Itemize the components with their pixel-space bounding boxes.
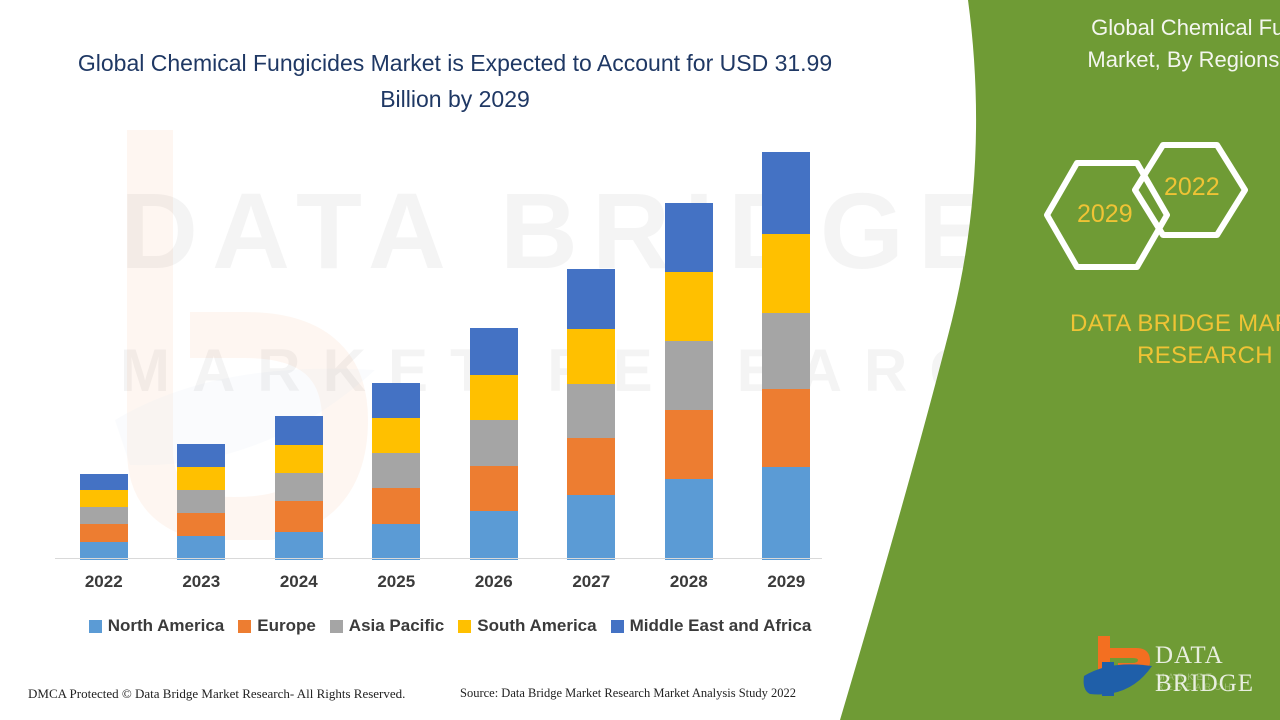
hex-badge-2022-label: 2022: [1164, 173, 1220, 202]
segment-europe-2024: [275, 501, 323, 531]
segment-middle-east-and-africa-2026: [470, 328, 518, 375]
bar-2028: [665, 152, 713, 560]
segment-europe-2022: [80, 524, 128, 541]
x-label-2025: 2025: [348, 572, 444, 592]
bar-2022: [80, 152, 128, 560]
segment-asia-pacific-2027: [567, 384, 615, 437]
segment-south-america-2026: [470, 375, 518, 421]
segment-europe-2028: [665, 410, 713, 480]
segment-europe-2029: [762, 389, 810, 468]
segment-south-america-2022: [80, 490, 128, 506]
x-axis-line: [55, 558, 822, 559]
segment-asia-pacific-2026: [470, 420, 518, 466]
legend-swatch-icon: [611, 620, 624, 633]
segment-europe-2027: [567, 438, 615, 495]
segment-south-america-2023: [177, 467, 225, 490]
segment-middle-east-and-africa-2025: [372, 383, 420, 418]
segment-middle-east-and-africa-2028: [665, 203, 713, 272]
bar-2023: [177, 152, 225, 560]
segment-north-america-2027: [567, 495, 615, 560]
chart-legend: North AmericaEuropeAsia PacificSouth Ame…: [55, 616, 845, 636]
legend-swatch-icon: [330, 620, 343, 633]
legend-item-middle-east-and-africa[interactable]: Middle East and Africa: [611, 616, 812, 636]
bar-2027: [567, 152, 615, 560]
legend-item-asia-pacific[interactable]: Asia Pacific: [330, 616, 444, 636]
x-label-2024: 2024: [251, 572, 347, 592]
page-title: Global Chemical Fungicides Market is Exp…: [60, 46, 850, 117]
segment-middle-east-and-africa-2027: [567, 269, 615, 329]
segment-north-america-2029: [762, 467, 810, 560]
segment-north-america-2024: [275, 532, 323, 560]
legend-swatch-icon: [458, 620, 471, 633]
legend-swatch-icon: [89, 620, 102, 633]
legend-swatch-icon: [238, 620, 251, 633]
segment-europe-2026: [470, 466, 518, 511]
bar-2026: [470, 152, 518, 560]
segment-south-america-2025: [372, 418, 420, 453]
segment-middle-east-and-africa-2022: [80, 474, 128, 490]
segment-south-america-2024: [275, 445, 323, 473]
segment-south-america-2028: [665, 272, 713, 341]
segment-europe-2025: [372, 488, 420, 524]
segment-south-america-2027: [567, 329, 615, 385]
data-bridge-logo-icon: [1080, 632, 1158, 704]
legend-label: Middle East and Africa: [630, 616, 812, 636]
segment-north-america-2026: [470, 511, 518, 560]
x-axis-labels: 20222023202420252026202720282029: [55, 572, 835, 600]
segment-north-america-2028: [665, 479, 713, 560]
segment-north-america-2023: [177, 536, 225, 560]
hex-badge-group: 2029 2022: [1025, 140, 1255, 295]
x-label-2028: 2028: [641, 572, 737, 592]
segment-south-america-2029: [762, 234, 810, 313]
legend-item-europe[interactable]: Europe: [238, 616, 316, 636]
segment-asia-pacific-2024: [275, 473, 323, 501]
brand-panel: Global Chemical Fungicides Market, By Re…: [840, 0, 1280, 720]
legend-label: Europe: [257, 616, 316, 636]
segment-middle-east-and-africa-2029: [762, 152, 810, 234]
segment-asia-pacific-2022: [80, 507, 128, 524]
footer-copyright: DMCA Protected © Data Bridge Market Rese…: [28, 686, 405, 702]
x-label-2027: 2027: [543, 572, 639, 592]
stacked-bar-chart: [55, 150, 835, 560]
logo-tagline: MARKET RESEARCH: [1157, 672, 1280, 692]
legend-label: South America: [477, 616, 596, 636]
x-label-2023: 2023: [153, 572, 249, 592]
footer-source: Source: Data Bridge Market Research Mark…: [460, 686, 796, 701]
brand-name: DATA BRIDGE MARKET RESEARCH: [1040, 308, 1280, 373]
segment-middle-east-and-africa-2024: [275, 416, 323, 444]
bar-2025: [372, 152, 420, 560]
segment-europe-2023: [177, 513, 225, 536]
bar-2029: [762, 152, 810, 560]
panel-title: Global Chemical Fungicides Market, By Re…: [1065, 12, 1280, 108]
x-label-2022: 2022: [56, 572, 152, 592]
x-label-2026: 2026: [446, 572, 542, 592]
segment-asia-pacific-2029: [762, 313, 810, 389]
legend-item-north-america[interactable]: North America: [89, 616, 225, 636]
bar-2024: [275, 152, 323, 560]
segment-asia-pacific-2025: [372, 453, 420, 488]
hex-badge-2029-label: 2029: [1077, 200, 1133, 229]
segment-north-america-2025: [372, 524, 420, 560]
legend-label: North America: [108, 616, 225, 636]
segment-middle-east-and-africa-2023: [177, 444, 225, 467]
legend-item-south-america[interactable]: South America: [458, 616, 596, 636]
segment-asia-pacific-2023: [177, 490, 225, 513]
segment-asia-pacific-2028: [665, 341, 713, 410]
x-label-2029: 2029: [738, 572, 834, 592]
legend-label: Asia Pacific: [349, 616, 444, 636]
